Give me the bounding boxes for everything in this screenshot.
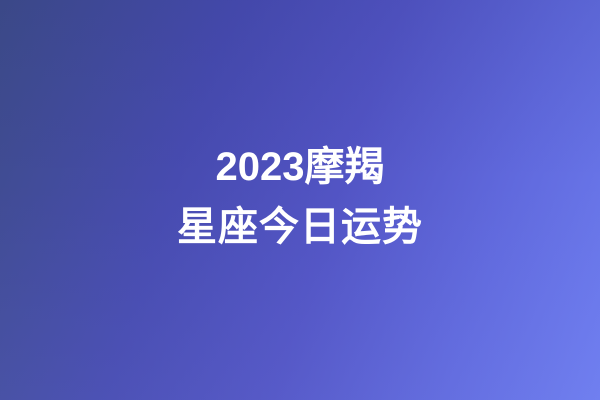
- banner-title-block: 2023摩羯 星座今日运势: [0, 137, 600, 263]
- banner-title-line-2: 星座今日运势: [0, 197, 600, 257]
- banner-title-line-1: 2023摩羯: [0, 137, 600, 197]
- banner-background: 2023摩羯 星座今日运势: [0, 0, 600, 400]
